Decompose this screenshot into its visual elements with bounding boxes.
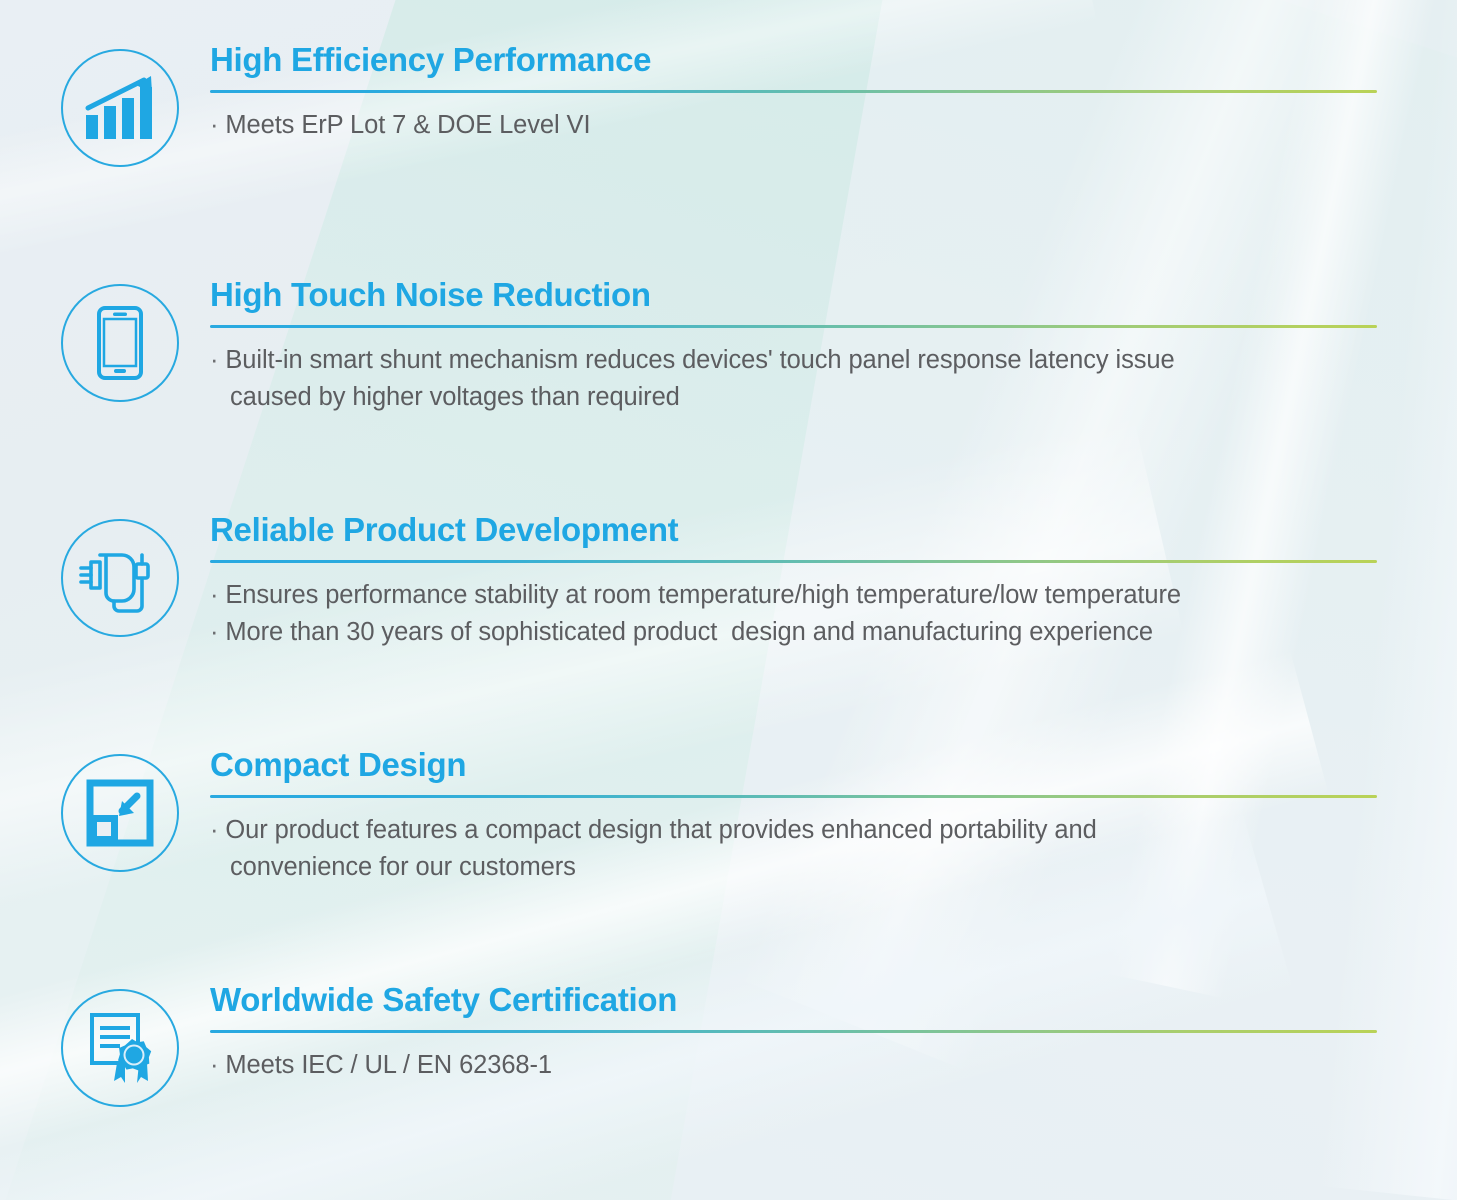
icon-circle-border <box>61 49 179 167</box>
icon-circle-border <box>61 284 179 402</box>
description-text: Our product features a compact design th… <box>225 816 1096 844</box>
description-line: · Our product features a compact design … <box>210 812 1377 849</box>
bullet-marker: · <box>210 618 225 646</box>
description-line: · Meets ErP Lot 7 & DOE Level VI <box>210 107 1377 144</box>
description-line: · Meets IEC / UL / EN 62368-1 <box>210 1047 1377 1084</box>
description-text: Meets IEC / UL / EN 62368-1 <box>225 1051 552 1079</box>
feature-icon-container <box>60 48 180 168</box>
feature-text-block: High Touch Noise Reduction · Built-in sm… <box>210 275 1377 416</box>
feature-item-worldwide-safety-certification: Worldwide Safety Certification · Meets I… <box>0 980 1457 1200</box>
feature-highlights-page: High Efficiency Performance · Meets ErP … <box>0 0 1457 1200</box>
feature-title: Worldwide Safety Certification <box>210 980 1377 1020</box>
feature-description: · Our product features a compact design … <box>210 812 1377 886</box>
feature-divider <box>210 560 1377 563</box>
icon-circle-border <box>61 754 179 872</box>
description-text: Meets ErP Lot 7 & DOE Level VI <box>225 111 590 139</box>
feature-description: · Meets ErP Lot 7 & DOE Level VI <box>210 107 1377 144</box>
bullet-marker: · <box>210 346 225 374</box>
feature-title: High Efficiency Performance <box>210 40 1377 80</box>
bullet-marker: · <box>210 581 225 609</box>
bullet-marker: · <box>210 816 225 844</box>
description-line: · Ensures performance stability at room … <box>210 577 1377 614</box>
description-text: convenience for our customers <box>230 853 576 881</box>
icon-circle-border <box>61 989 179 1107</box>
feature-description: · Meets IEC / UL / EN 62368-1 <box>210 1047 1377 1084</box>
feature-item-compact-design: Compact Design · Our product features a … <box>0 745 1457 980</box>
feature-icon-container <box>60 283 180 403</box>
bar-chart-growth-icon <box>84 75 156 141</box>
description-text: Built-in smart shunt mechanism reduces d… <box>225 346 1174 374</box>
icon-circle-border <box>61 519 179 637</box>
description-line: · Built-in smart shunt mechanism reduces… <box>210 342 1377 379</box>
description-text: More than 30 years of sophisticated prod… <box>225 618 1153 646</box>
feature-item-reliable-product-development: Reliable Product Development · Ensures p… <box>0 510 1457 745</box>
description-line: · More than 30 years of sophisticated pr… <box>210 614 1377 651</box>
feature-text-block: Compact Design · Our product features a … <box>210 745 1377 886</box>
smartphone-icon <box>97 306 143 380</box>
description-text: Ensures performance stability at room te… <box>225 581 1181 609</box>
feature-title: High Touch Noise Reduction <box>210 275 1377 315</box>
power-adapter-icon <box>78 542 162 614</box>
description-line: caused by higher voltages than required <box>210 379 1377 416</box>
feature-title: Compact Design <box>210 745 1377 785</box>
feature-text-block: Worldwide Safety Certification · Meets I… <box>210 980 1377 1084</box>
description-line: convenience for our customers <box>210 849 1377 886</box>
feature-description: · Built-in smart shunt mechanism reduces… <box>210 342 1377 416</box>
feature-divider <box>210 325 1377 328</box>
feature-divider <box>210 1030 1377 1033</box>
feature-divider <box>210 795 1377 798</box>
feature-item-high-efficiency-performance: High Efficiency Performance · Meets ErP … <box>0 40 1457 275</box>
feature-icon-container <box>60 518 180 638</box>
bullet-marker: · <box>210 1051 225 1079</box>
feature-list: High Efficiency Performance · Meets ErP … <box>0 0 1457 1200</box>
bullet-marker: · <box>210 111 225 139</box>
feature-title: Reliable Product Development <box>210 510 1377 550</box>
feature-icon-container <box>60 988 180 1108</box>
feature-text-block: High Efficiency Performance · Meets ErP … <box>210 40 1377 144</box>
feature-item-high-touch-noise-reduction: High Touch Noise Reduction · Built-in sm… <box>0 275 1457 510</box>
feature-description: · Ensures performance stability at room … <box>210 577 1377 651</box>
feature-divider <box>210 90 1377 93</box>
feature-icon-container <box>60 753 180 873</box>
certificate-award-icon <box>84 1011 156 1085</box>
feature-text-block: Reliable Product Development · Ensures p… <box>210 510 1377 651</box>
compact-resize-icon <box>86 779 154 847</box>
description-text: caused by higher voltages than required <box>230 383 680 411</box>
